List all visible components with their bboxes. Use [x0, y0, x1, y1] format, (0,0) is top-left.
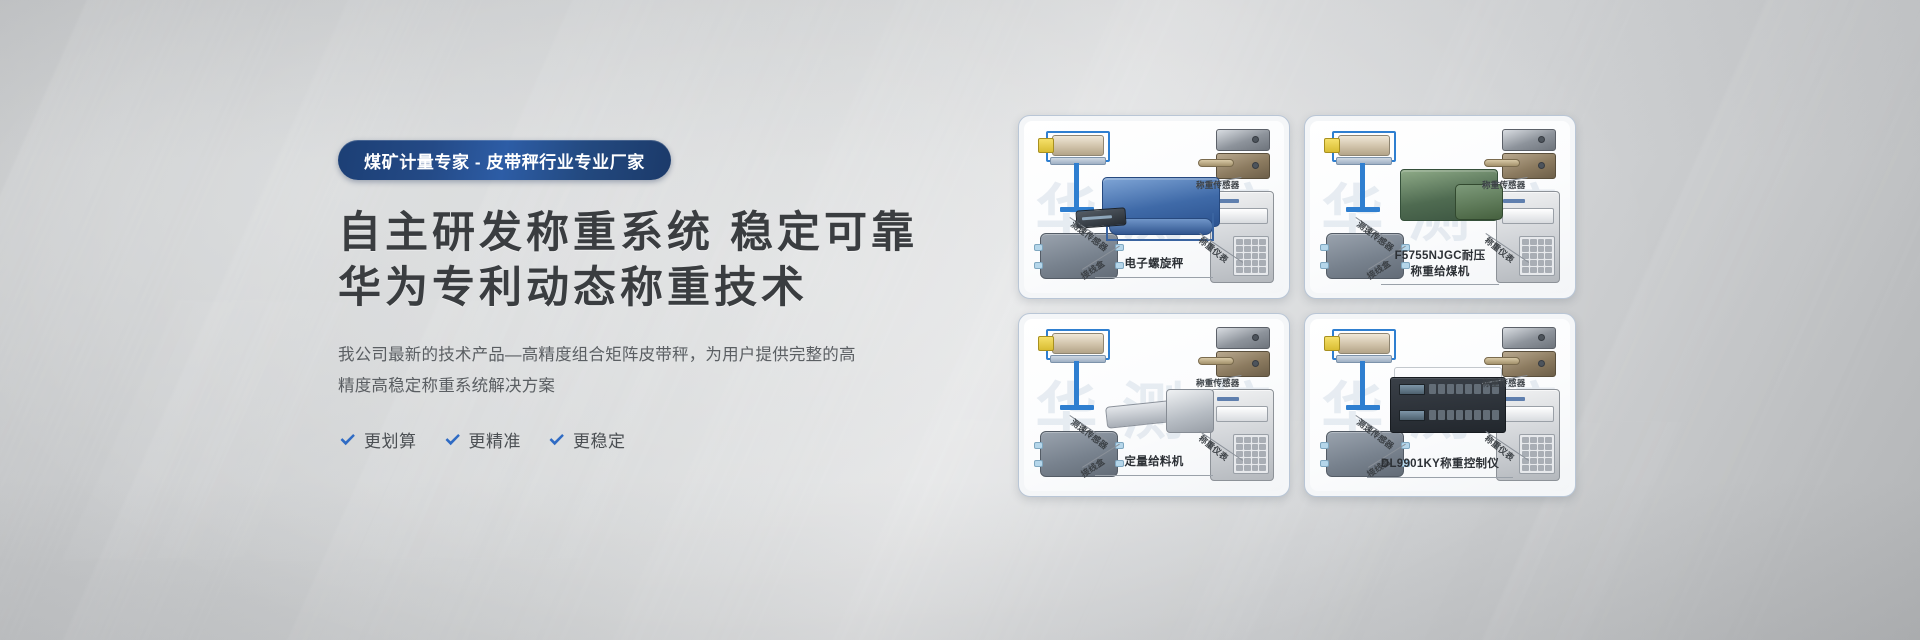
background-vignette — [0, 0, 1920, 640]
label-load-cell: 称重传感器 — [1482, 179, 1526, 191]
feature-item-1: 更划算 — [338, 427, 417, 452]
tagline-badge: 煤矿计量专家 - 皮带秤行业专业厂家 — [338, 140, 671, 180]
hero-copy: 煤矿计量专家 - 皮带秤行业专业厂家 自主研发称重系统 稳定可靠 华为专利动态称… — [338, 140, 938, 452]
speed-sensor-image — [1324, 331, 1398, 409]
card-title: DL9901KY称重控制仪 — [1310, 457, 1570, 478]
background-pattern — [0, 0, 1920, 640]
speed-sensor-image — [1038, 133, 1112, 211]
headline-line-1: 自主研发称重系统 稳定可靠 — [338, 206, 938, 261]
feature-label: 更精准 — [469, 427, 522, 452]
speed-sensor-image — [1324, 133, 1398, 211]
machine-image — [1394, 165, 1504, 231]
label-load-cell: 称重传感器 — [1196, 377, 1240, 389]
card-title: 定量给料机 — [1024, 455, 1284, 476]
hero-banner: 煤矿计量专家 - 皮带秤行业专业厂家 自主研发称重系统 稳定可靠 华为专利动态称… — [0, 0, 1920, 640]
check-icon — [443, 430, 462, 449]
card-title: F5755NJGC耐压 称重给煤机 — [1310, 249, 1570, 285]
card-title: 电子螺旋秤 — [1024, 257, 1284, 278]
machine-image — [1388, 363, 1510, 441]
product-card-grid: 华 测 控 — [1018, 115, 1576, 497]
label-load-cell: 称重传感器 — [1482, 377, 1526, 389]
product-card-quantitative-feeder[interactable]: 华 测 控 — [1018, 313, 1290, 497]
feature-list: 更划算 更精准 更稳定 — [338, 427, 938, 452]
product-card-f5755njgc-coal-feeder[interactable]: 华 测 控 — [1304, 115, 1576, 299]
headline-line-2: 华为专利动态称重技术 — [338, 261, 938, 316]
hero-description: 我公司最新的技术产品—高精度组合矩阵皮带秤，为用户提供完整的高精度高稳定称重系统… — [338, 340, 868, 401]
product-card-electronic-screw-scale[interactable]: 华 测 控 — [1018, 115, 1290, 299]
feature-item-2: 更精准 — [443, 427, 522, 452]
feature-item-3: 更稳定 — [547, 427, 626, 452]
label-load-cell: 称重传感器 — [1196, 179, 1240, 191]
feature-label: 更稳定 — [573, 427, 626, 452]
product-card-dl9901ky-controller[interactable]: 华 测 控 — [1304, 313, 1576, 497]
feature-label: 更划算 — [364, 427, 417, 452]
page-title: 自主研发称重系统 稳定可靠 华为专利动态称重技术 — [338, 206, 938, 316]
speed-sensor-image — [1038, 331, 1112, 409]
check-icon — [338, 430, 357, 449]
check-icon — [547, 430, 566, 449]
